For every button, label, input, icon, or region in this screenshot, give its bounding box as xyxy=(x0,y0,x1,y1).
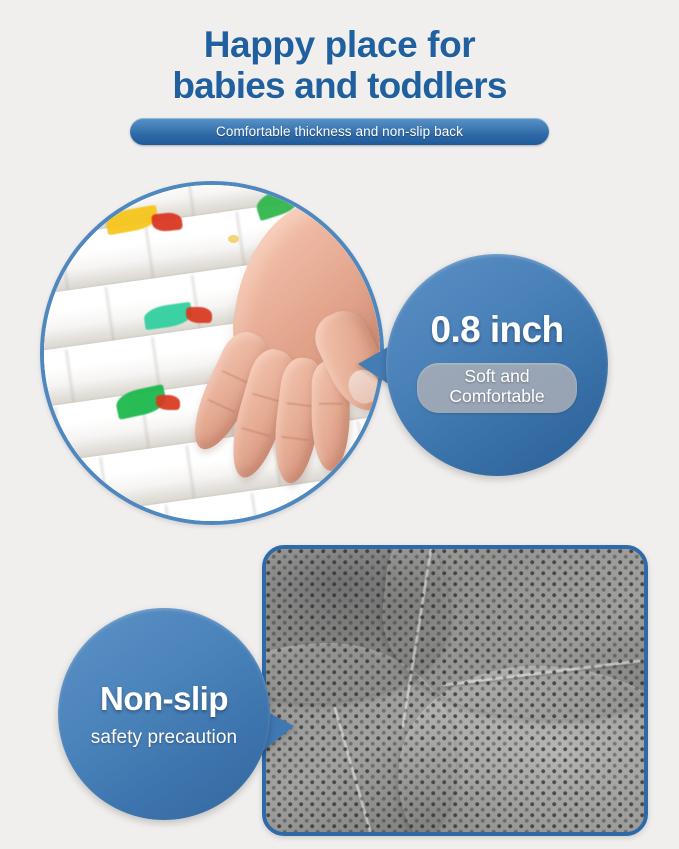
page-title-line1: Happy place for xyxy=(204,24,476,65)
thickness-caption-pill: Soft and Comfortable xyxy=(417,363,577,412)
print-leaf-red-3 xyxy=(156,395,180,410)
non-slip-callout-bubble: Non-slip safety precaution xyxy=(58,608,270,820)
thickness-callout-bubble: 0.8 inch Soft and Comfortable xyxy=(386,254,608,476)
non-slip-dot-texture-secondary xyxy=(266,549,644,832)
subtitle-banner: Comfortable thickness and non-slip back xyxy=(130,118,549,145)
mattress-photo-circle xyxy=(40,181,384,525)
thickness-value: 0.8 inch xyxy=(431,309,564,351)
thickness-caption-line1: Soft and xyxy=(417,367,577,387)
print-leaf-red xyxy=(151,211,183,232)
page-title: Happy place for babies and toddlers xyxy=(0,24,679,107)
print-berry-orange xyxy=(380,395,384,408)
non-slip-photo-panel xyxy=(262,545,648,836)
non-slip-title: Non-slip xyxy=(100,680,228,718)
mattress-photo-inner xyxy=(40,181,384,525)
thickness-caption-line2: Comfortable xyxy=(417,387,577,407)
subtitle-text: Comfortable thickness and non-slip back xyxy=(216,124,463,139)
non-slip-callout-disc: Non-slip safety precaution xyxy=(58,608,270,820)
non-slip-caption: safety precaution xyxy=(91,727,237,749)
infographic-root: Happy place for babies and toddlers Comf… xyxy=(0,0,679,849)
thickness-callout-disc: 0.8 inch Soft and Comfortable xyxy=(386,254,608,476)
page-title-line2: babies and toddlers xyxy=(0,65,679,106)
